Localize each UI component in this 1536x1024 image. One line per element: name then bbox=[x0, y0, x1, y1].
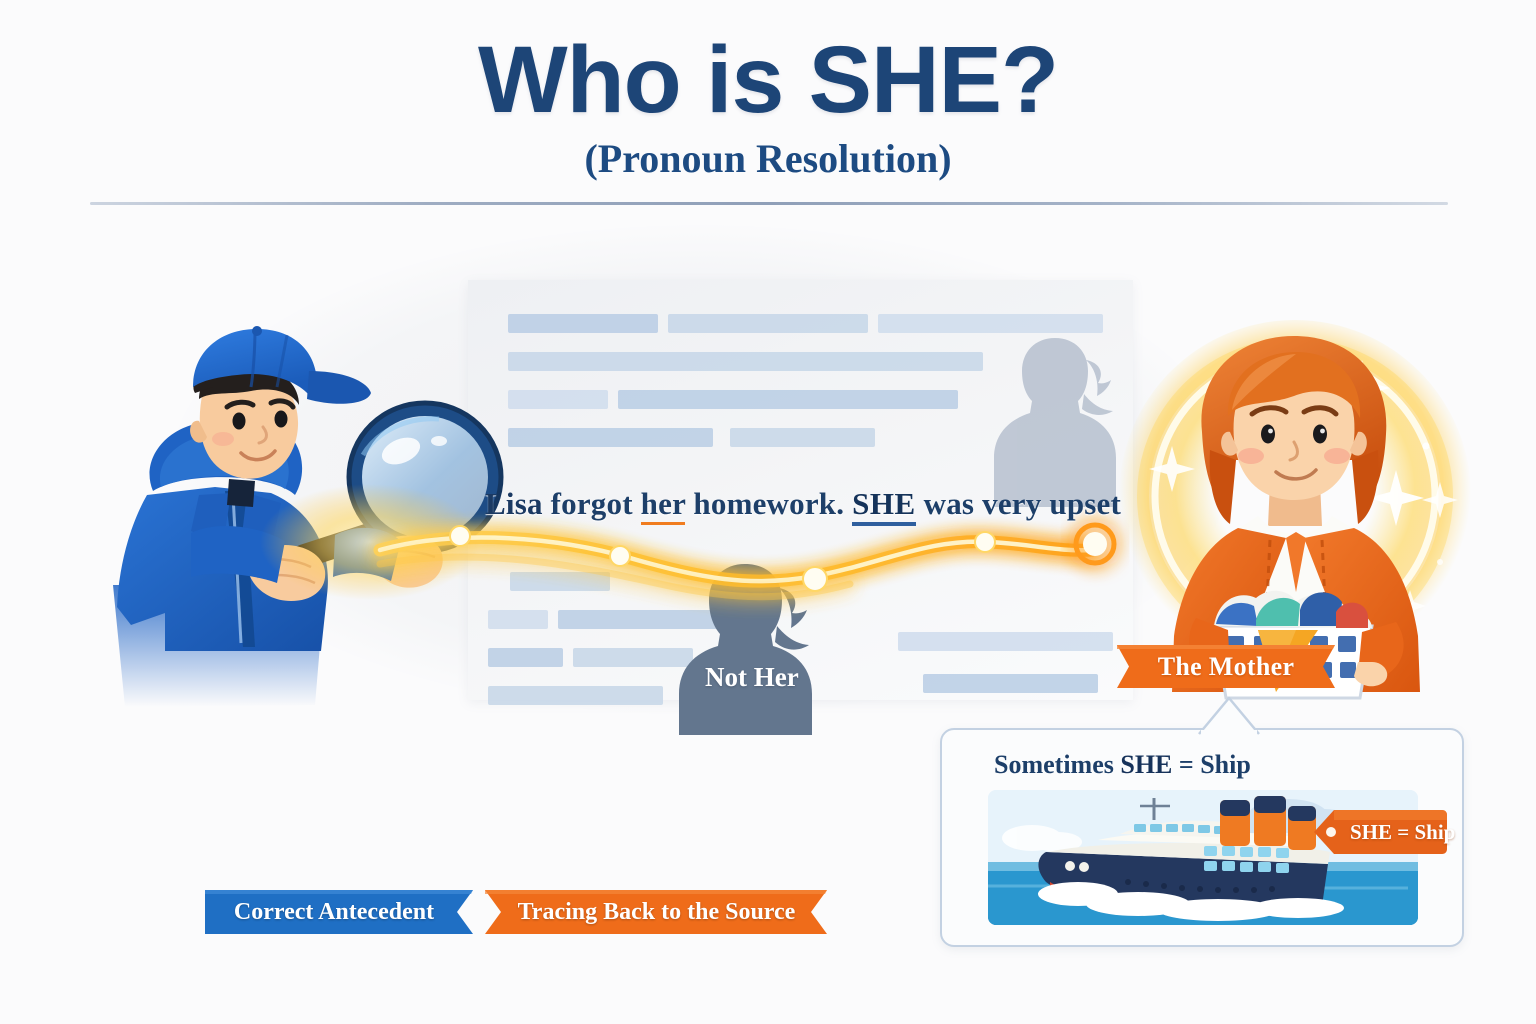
she-equals-ship-label: SHE = Ship bbox=[1350, 808, 1455, 856]
document-placeholder-bar bbox=[923, 674, 1098, 693]
the-mother-label: The Mother bbox=[1117, 645, 1335, 688]
document-placeholder-bar bbox=[730, 428, 875, 447]
callout-title-suffix: = Ship bbox=[1172, 750, 1250, 779]
document-placeholder-bar bbox=[508, 428, 713, 447]
the-mother-banner: The Mother bbox=[1117, 645, 1335, 688]
document-placeholder-bar bbox=[618, 390, 958, 409]
infographic-canvas: Who is SHE? (Pronoun Resolution) Not Her… bbox=[0, 0, 1536, 1024]
document-placeholder-bar bbox=[508, 352, 983, 371]
page-title: Who is SHE? bbox=[0, 0, 1536, 129]
callout-title: Sometimes SHE = Ship bbox=[994, 750, 1251, 780]
sentence-part-2: forgot bbox=[543, 486, 641, 521]
page-subtitle: (Pronoun Resolution) bbox=[0, 129, 1536, 182]
callout-title-prefix: Sometimes bbox=[994, 750, 1120, 779]
ship-callout-box: Sometimes SHE = Ship bbox=[940, 728, 1464, 947]
mother-character bbox=[1110, 300, 1480, 700]
document-placeholder-bar bbox=[878, 314, 1103, 333]
ribbon-label-correct-antecedent: Correct Antecedent bbox=[205, 890, 473, 934]
document-placeholder-bar bbox=[668, 314, 868, 333]
pronoun-she-highlight: SHE bbox=[852, 486, 916, 526]
pronoun-her-highlight: her bbox=[641, 486, 686, 525]
sentence-part-4: was very upset bbox=[916, 486, 1121, 521]
header: Who is SHE? (Pronoun Resolution) bbox=[0, 0, 1536, 182]
antecedent-word-lisa: Lisa bbox=[485, 486, 543, 521]
example-sentence: Lisa forgot her homework. SHE was very u… bbox=[485, 486, 1121, 522]
document-placeholder-bar bbox=[508, 314, 658, 333]
callout-pointer-tail bbox=[1195, 694, 1275, 736]
not-her-label: Not Her bbox=[705, 662, 799, 693]
ribbon-label-tracing-back: Tracing Back to the Source bbox=[485, 890, 827, 934]
ribbon-tracing-back[interactable]: Tracing Back to the Source bbox=[485, 890, 827, 934]
callout-title-keyword: SHE bbox=[1120, 750, 1172, 779]
footer-ribbons: Correct Antecedent Tracing Back to the S… bbox=[205, 890, 827, 934]
header-divider bbox=[90, 202, 1448, 205]
ribbon-correct-antecedent[interactable]: Correct Antecedent bbox=[205, 890, 473, 934]
sentence-part-3: homework. bbox=[685, 486, 852, 521]
